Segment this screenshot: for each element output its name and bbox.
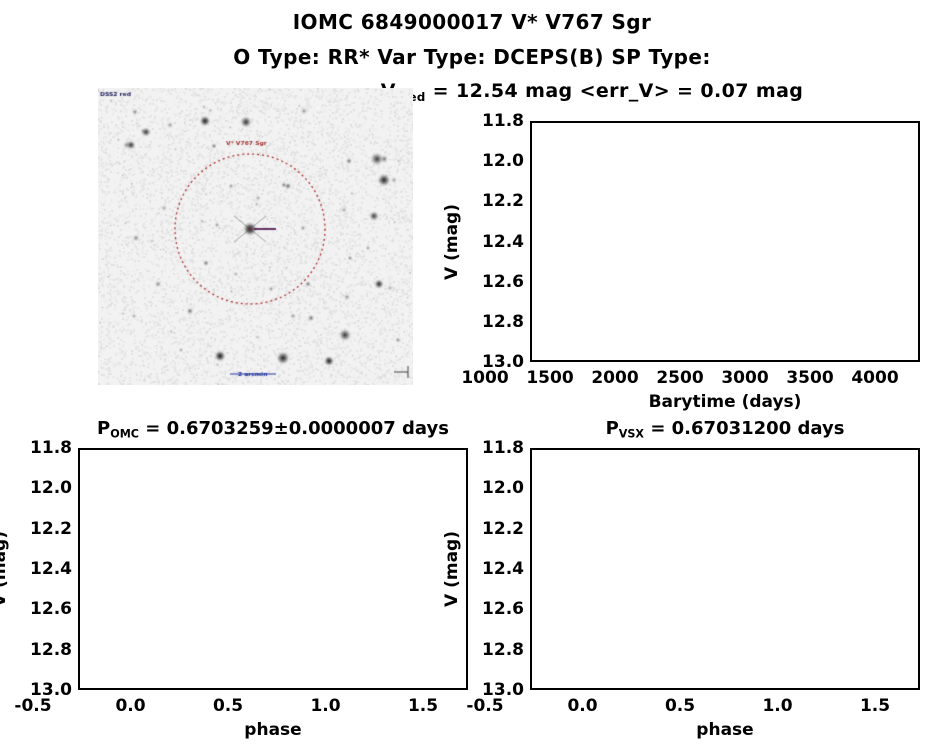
barytime-plot-frame xyxy=(530,121,920,362)
ytick-vsx-2: 12.2 xyxy=(468,519,524,539)
xtick-vsx-1: 0.0 xyxy=(538,696,628,716)
xaxis-label-bary: Barytime (days) xyxy=(649,392,802,412)
omc-phase-plot-panel[interactable] xyxy=(78,448,468,690)
yaxis-label-vsx: V (mag) xyxy=(442,531,462,607)
ytick-bary-2: 12.2 xyxy=(468,191,524,211)
omc-title-subscript: OMC xyxy=(110,428,139,441)
yaxis-label-bary: V (mag) xyxy=(442,204,462,280)
ytick-vsx-5: 12.8 xyxy=(468,640,524,660)
ytick-omc-4: 12.6 xyxy=(16,599,72,619)
finding-chart-panel[interactable] xyxy=(98,88,413,385)
xtick-omc-1: 0.0 xyxy=(86,696,176,716)
omc-title-value: = 0.6703259±0.0000007 days xyxy=(139,418,449,439)
xtick-vsx-4: 1.5 xyxy=(830,696,920,716)
page-title: IOMC 6849000017 V* V767 Sgr xyxy=(0,10,944,34)
vmed-value-text: = 12.54 mag <err_V> = 0.07 mag xyxy=(426,80,804,102)
object-type-line: O Type: RR* Var Type: DCEPS(B) SP Type: xyxy=(0,45,944,69)
ytick-vsx-1: 12.0 xyxy=(468,478,524,498)
ytick-omc-5: 12.8 xyxy=(16,640,72,660)
ytick-omc-3: 12.4 xyxy=(16,559,72,579)
ytick-vsx-0: 11.8 xyxy=(468,438,524,458)
vsx-title-subscript: VSX xyxy=(619,428,644,441)
omc-title-symbol: P xyxy=(97,418,110,439)
omc-panel-title: POMC = 0.6703259±0.0000007 days xyxy=(78,418,468,441)
ytick-bary-3: 12.4 xyxy=(468,232,524,252)
xtick-vsx-0: -0.5 xyxy=(440,696,530,716)
xtick-omc-0: -0.5 xyxy=(0,696,78,716)
xaxis-label-omc: phase xyxy=(244,720,301,740)
ytick-bary-0: 11.8 xyxy=(468,111,524,131)
vsx-phase-plot-panel[interactable] xyxy=(530,448,920,690)
ytick-bary-5: 12.8 xyxy=(468,312,524,332)
xtick-omc-2: 0.5 xyxy=(183,696,273,716)
xtick-vsx-2: 0.5 xyxy=(635,696,725,716)
ytick-vsx-3: 12.4 xyxy=(468,559,524,579)
ytick-omc-0: 11.8 xyxy=(16,438,72,458)
xtick-omc-3: 1.0 xyxy=(281,696,371,716)
finding-chart-image xyxy=(98,88,413,385)
barytime-plot-panel[interactable] xyxy=(530,121,920,362)
ytick-bary-1: 12.0 xyxy=(468,151,524,171)
vsx-plot-frame xyxy=(530,448,920,690)
vsx-panel-title: PVSX = 0.67031200 days xyxy=(530,418,920,441)
xaxis-label-vsx: phase xyxy=(696,720,753,740)
omc-plot-frame xyxy=(78,448,468,690)
vsx-title-value: = 0.67031200 days xyxy=(644,418,844,439)
ytick-vsx-4: 12.6 xyxy=(468,599,524,619)
xtick-bary-6: 4000 xyxy=(830,368,920,388)
ytick-bary-4: 12.6 xyxy=(468,272,524,292)
ytick-omc-1: 12.0 xyxy=(16,478,72,498)
xtick-vsx-3: 1.0 xyxy=(733,696,823,716)
ytick-omc-2: 12.2 xyxy=(16,519,72,539)
vsx-title-symbol: P xyxy=(606,418,619,439)
yaxis-label-omc: V (mag) xyxy=(0,531,10,607)
